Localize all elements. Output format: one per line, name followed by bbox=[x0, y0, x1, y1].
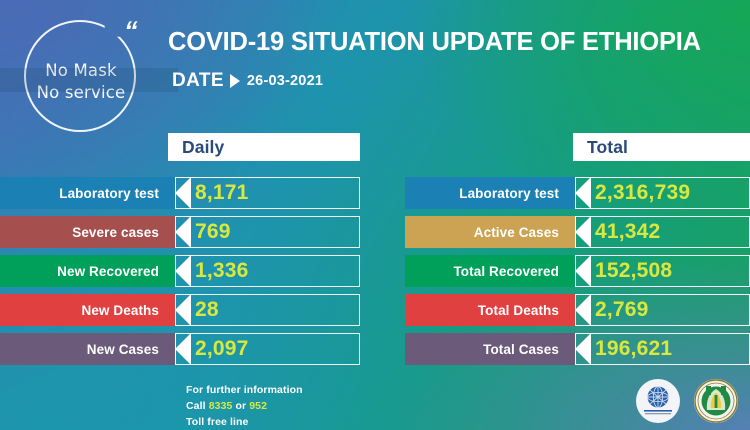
total-column-header: Total bbox=[573, 133, 750, 161]
daily-label-band: Severe cases bbox=[0, 216, 175, 248]
hotline-number-1: 8335 bbox=[209, 400, 233, 412]
total-row-label: Laboratory test bbox=[459, 186, 559, 201]
total-row-value: 196,621 bbox=[595, 337, 672, 361]
daily-label-band: New Recovered bbox=[0, 255, 175, 287]
table-row: Severe cases769Active Cases41,342 bbox=[0, 216, 750, 248]
daily-row-value: 8,171 bbox=[195, 181, 249, 205]
daily-row-value: 2,097 bbox=[195, 337, 249, 361]
info-line-1: For further information bbox=[186, 383, 303, 399]
daily-row-label: New Recovered bbox=[57, 264, 159, 279]
table-row: New Deaths28Total Deaths2,769 bbox=[0, 294, 750, 326]
total-label-band: Total Deaths bbox=[405, 294, 575, 326]
daily-header-box: Daily bbox=[168, 133, 360, 161]
total-row-label: Total Cases bbox=[483, 342, 559, 357]
ephi-logo bbox=[636, 379, 680, 423]
daily-value-box: 1,336 bbox=[175, 255, 360, 287]
date-label: DATE bbox=[172, 70, 224, 92]
total-row-value: 41,342 bbox=[595, 220, 660, 244]
total-row-label: Total Recovered bbox=[453, 264, 559, 279]
daily-row-label: Laboratory test bbox=[59, 186, 159, 201]
daily-row-label: Severe cases bbox=[72, 225, 159, 240]
daily-value-box: 769 bbox=[175, 216, 360, 248]
total-value-box: 152,508 bbox=[575, 255, 750, 287]
total-label-band: Total Recovered bbox=[405, 255, 575, 287]
ministry-of-health-logo bbox=[694, 379, 738, 423]
call-prefix: Call bbox=[186, 400, 209, 412]
table-row: New Cases2,097Total Cases196,621 bbox=[0, 333, 750, 365]
daily-column-header: Daily bbox=[168, 133, 360, 161]
total-header-text: Total bbox=[587, 137, 628, 158]
caret-right-icon bbox=[230, 74, 240, 88]
total-row-label: Total Deaths bbox=[478, 303, 559, 318]
daily-row-value: 769 bbox=[195, 220, 231, 244]
daily-value-box: 2,097 bbox=[175, 333, 360, 365]
daily-label-band: New Deaths bbox=[0, 294, 175, 326]
total-row-value: 2,316,739 bbox=[595, 181, 690, 205]
total-row-value: 2,769 bbox=[595, 298, 649, 322]
table-row: New Recovered1,336Total Recovered152,508 bbox=[0, 255, 750, 287]
daily-label-band: Laboratory test bbox=[0, 177, 175, 209]
call-joiner: or bbox=[232, 400, 249, 412]
daily-value-box: 8,171 bbox=[175, 177, 360, 209]
daily-row-label: New Cases bbox=[87, 342, 159, 357]
quotation-mark-icon: “ bbox=[121, 18, 139, 45]
total-value-box: 2,316,739 bbox=[575, 177, 750, 209]
further-information: For further information Call 8335 or 952… bbox=[186, 383, 303, 430]
total-value-box: 2,769 bbox=[575, 294, 750, 326]
total-value-box: 196,621 bbox=[575, 333, 750, 365]
total-label-band: Active Cases bbox=[405, 216, 575, 248]
page-title: COVID-19 SITUATION UPDATE OF ETHIOPIA bbox=[168, 28, 701, 57]
date-value: 26-03-2021 bbox=[247, 73, 323, 89]
table-row: Laboratory test8,171Laboratory test2,316… bbox=[0, 177, 750, 209]
daily-row-value: 28 bbox=[195, 298, 219, 322]
daily-header-text: Daily bbox=[182, 137, 224, 158]
daily-label-band: New Cases bbox=[0, 333, 175, 365]
total-value-box: 41,342 bbox=[575, 216, 750, 248]
date-row: DATE 26-03-2021 bbox=[172, 68, 323, 94]
covid-situation-update-poster: “ No Mask No service COVID-19 SITUATION … bbox=[0, 0, 750, 430]
total-row-label: Active Cases bbox=[474, 225, 559, 240]
info-line-3: Toll free line bbox=[186, 415, 303, 430]
info-line-2: Call 8335 or 952 bbox=[186, 399, 303, 415]
date-highlight bbox=[0, 68, 178, 92]
total-header-box: Total bbox=[573, 133, 750, 161]
total-label-band: Total Cases bbox=[405, 333, 575, 365]
total-row-value: 152,508 bbox=[595, 259, 672, 283]
daily-row-label: New Deaths bbox=[81, 303, 159, 318]
total-label-band: Laboratory test bbox=[405, 177, 575, 209]
organization-logos bbox=[636, 379, 738, 423]
hotline-number-2: 952 bbox=[249, 400, 267, 412]
daily-row-value: 1,336 bbox=[195, 259, 249, 283]
statistics-rows: Laboratory test8,171Laboratory test2,316… bbox=[0, 177, 750, 372]
daily-value-box: 28 bbox=[175, 294, 360, 326]
